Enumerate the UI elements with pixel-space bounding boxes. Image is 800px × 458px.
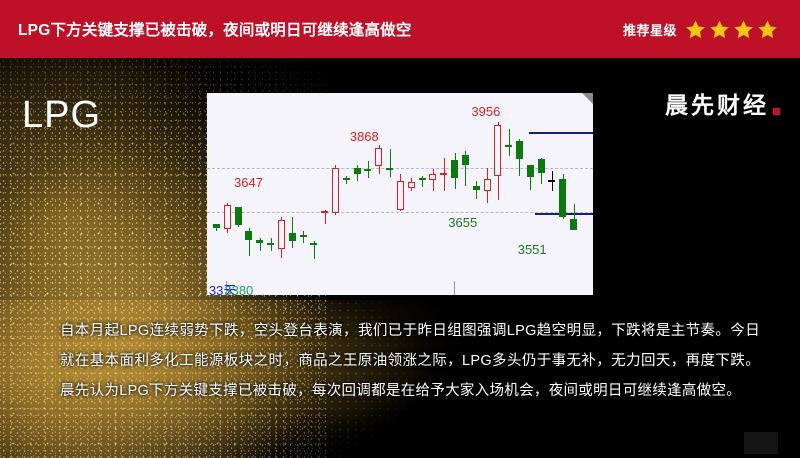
candle-body bbox=[289, 233, 296, 241]
candle-body bbox=[310, 243, 317, 245]
candle-body bbox=[538, 159, 545, 173]
candle-wick bbox=[509, 129, 510, 156]
header-bar: LPG下方关键支撑已被击破，夜间或明日可继续逢高做空 推荐星级 bbox=[0, 0, 800, 58]
candle-body bbox=[397, 181, 404, 210]
candle-body bbox=[321, 211, 328, 213]
chart-reference-line bbox=[529, 132, 593, 134]
candle-body bbox=[527, 165, 534, 176]
candle-body bbox=[245, 231, 252, 241]
star-icon bbox=[709, 19, 730, 40]
instrument-logo: LPG bbox=[22, 96, 101, 134]
article-paragraph: 自本月起LPG连续弱势下跌，空头登台表演，我们已于昨日组图强调LPG趋空明显，下… bbox=[60, 316, 760, 406]
star-icon bbox=[685, 19, 706, 40]
candle-wick bbox=[390, 149, 391, 176]
candle-body bbox=[548, 180, 555, 182]
candle-body bbox=[300, 235, 307, 237]
candle-body bbox=[224, 205, 231, 229]
star-rating bbox=[685, 19, 778, 40]
candle-body bbox=[213, 224, 220, 227]
candle-body bbox=[440, 173, 447, 175]
star-icon bbox=[733, 19, 754, 40]
candle-body bbox=[505, 145, 512, 148]
brand-mark: 晨先财经 bbox=[665, 86, 780, 120]
chart-axis-tick bbox=[454, 281, 455, 295]
candle-body bbox=[364, 169, 371, 171]
screenshot-stage: LPG下方关键支撑已被击破，夜间或明日可继续逢高做空 推荐星级 LPG 晨先财经… bbox=[0, 0, 800, 458]
candle-body bbox=[343, 178, 350, 181]
chart-price-label: 3551 bbox=[518, 242, 547, 257]
candle-body bbox=[473, 186, 480, 190]
candlestick-chart[interactable]: 3647386839563655355133天3380 bbox=[207, 93, 593, 295]
candle-body bbox=[570, 219, 577, 230]
candle-body bbox=[451, 160, 458, 178]
candle-body bbox=[375, 148, 382, 167]
candle-body bbox=[235, 207, 242, 225]
candle-body bbox=[278, 220, 285, 249]
rating-label: 推荐星级 bbox=[623, 20, 677, 39]
candle-body bbox=[267, 243, 274, 245]
corner-watermark bbox=[744, 432, 778, 454]
rating-group: 推荐星级 bbox=[623, 19, 778, 40]
chart-price-label: 3868 bbox=[350, 129, 379, 144]
brand-name: 晨先财经 bbox=[665, 86, 769, 120]
chart-price-label: 3655 bbox=[448, 215, 477, 230]
candle-body bbox=[494, 125, 501, 176]
candle-body bbox=[516, 141, 523, 159]
candle-body bbox=[419, 178, 426, 181]
chart-price-label: 3647 bbox=[234, 175, 263, 190]
star-icon bbox=[757, 19, 778, 40]
chart-gridline bbox=[207, 168, 593, 169]
candle-body bbox=[429, 174, 436, 181]
candle-body bbox=[408, 182, 415, 188]
page-title: LPG下方关键支撑已被击破，夜间或明日可继续逢高做空 bbox=[18, 18, 412, 40]
candle-body bbox=[256, 240, 263, 243]
candle-body bbox=[462, 155, 469, 165]
chart-corner-fold-icon bbox=[582, 93, 593, 104]
candle-body bbox=[386, 168, 393, 170]
chart-price-label: 3956 bbox=[471, 104, 500, 119]
candle-body bbox=[484, 179, 491, 191]
candle-body bbox=[559, 179, 566, 217]
candle-body bbox=[332, 168, 339, 213]
candle-body bbox=[354, 168, 361, 174]
brand-dot-icon bbox=[773, 108, 780, 115]
chart-price-label: 3380 bbox=[224, 283, 253, 295]
